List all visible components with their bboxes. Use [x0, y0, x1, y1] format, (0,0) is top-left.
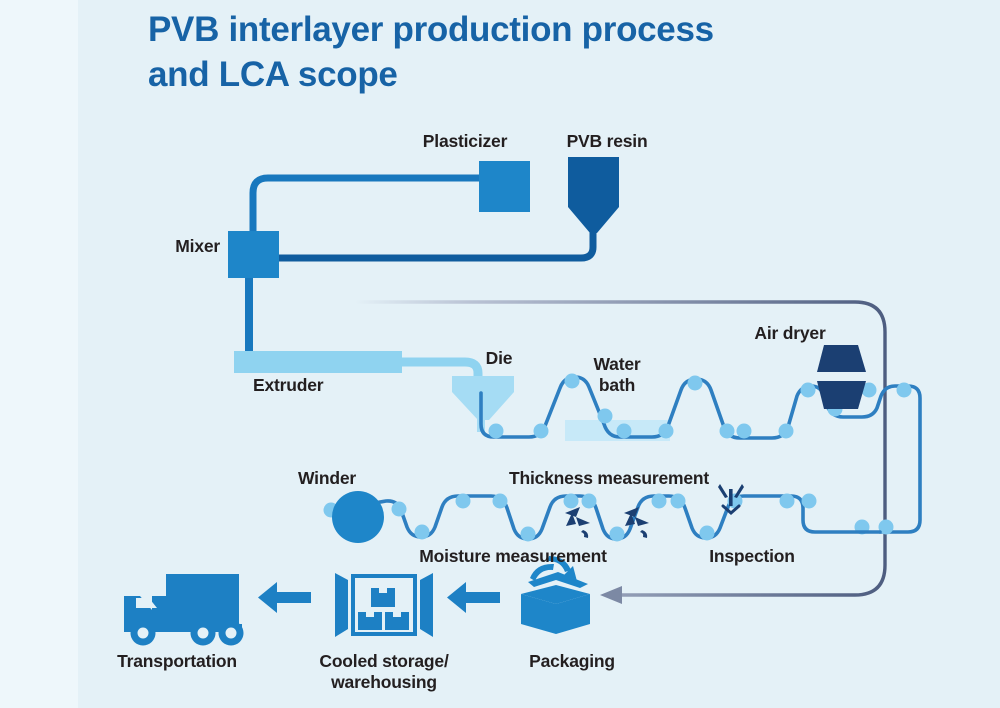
label-winder: Winder [298, 468, 356, 489]
resin-feed-pipe [253, 232, 593, 258]
winder-roll-icon [332, 491, 384, 543]
label-cooled-storage-line2: warehousing [319, 672, 448, 693]
label-cooled-storage-line1: Cooled storage/ [319, 651, 448, 672]
plasticizer-feed-pipe [253, 178, 479, 240]
label-plasticizer: Plasticizer [423, 131, 507, 152]
label-moisture-measurement: Moisture measurement [419, 546, 607, 567]
arrow-left-icon-storage [258, 582, 311, 613]
label-extruder: Extruder [253, 375, 323, 396]
label-cooled-storage: Cooled storage/ warehousing [319, 651, 448, 692]
label-pvb-resin: PVB resin [567, 131, 648, 152]
plasticizer-box-icon [479, 161, 530, 212]
resin-hopper-icon [568, 157, 619, 233]
label-water-bath-line2: bath [594, 375, 641, 396]
arrow-left-icon-packaging [447, 582, 500, 613]
air-dryer-icon [817, 345, 866, 409]
label-die: Die [486, 348, 513, 369]
die-funnel-icon [452, 376, 514, 420]
label-water-bath-line1: Water [594, 354, 641, 375]
delivery-truck-icon [124, 574, 244, 646]
diagram-root: PVB interlayer production process and LC… [0, 0, 1000, 708]
thickness-sensor-icon [565, 507, 590, 538]
label-thickness-measurement: Thickness measurement [509, 468, 709, 489]
label-water-bath: Water bath [594, 354, 641, 395]
label-air-dryer: Air dryer [754, 323, 825, 344]
scope-arrow-head-icon [600, 586, 622, 604]
label-packaging: Packaging [529, 651, 615, 672]
open-box-icon [521, 556, 590, 634]
die-inlet-pipe [400, 362, 478, 378]
mixer-box-icon [228, 231, 279, 278]
extruder-bar-icon [234, 351, 402, 373]
label-inspection: Inspection [709, 546, 795, 567]
label-transportation: Transportation [117, 651, 237, 672]
label-mixer: Mixer [175, 236, 220, 257]
warehouse-boxes-icon [335, 573, 433, 637]
